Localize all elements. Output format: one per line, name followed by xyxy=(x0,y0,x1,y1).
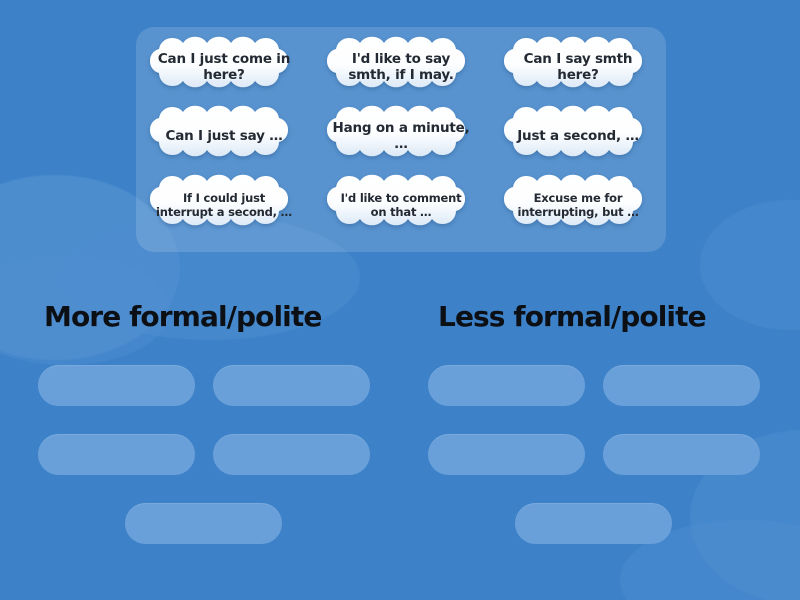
drop-slot[interactable] xyxy=(213,365,370,406)
card-label: Hang on a minute, … xyxy=(322,121,480,153)
group-heading-more-formal: More formal/polite xyxy=(44,300,321,333)
card-label: Can I just say … xyxy=(156,129,291,145)
drop-slot[interactable] xyxy=(428,365,585,406)
activity-stage: Can I just come in here?I'd like to say … xyxy=(0,0,800,600)
card-label: Can I just come in here? xyxy=(145,52,303,84)
card-label: I'd like to comment on that … xyxy=(322,192,480,219)
draggable-card[interactable]: Just a second, … xyxy=(499,105,657,169)
drop-slot[interactable] xyxy=(125,503,282,544)
draggable-card[interactable]: Can I just say … xyxy=(145,105,303,169)
card-row: If I could just interrupt a second, …I'd… xyxy=(136,174,666,239)
draggable-card[interactable]: Excuse me for interrupting, but … xyxy=(499,174,657,238)
card-label: If I could just interrupt a second, … xyxy=(145,192,303,219)
draggable-card[interactable]: I'd like to comment on that … xyxy=(322,174,480,238)
draggable-card[interactable]: I'd like to say smth, if I may. xyxy=(322,36,480,100)
draggable-card[interactable]: If I could just interrupt a second, … xyxy=(145,174,303,238)
group-heading-less-formal: Less formal/polite xyxy=(438,300,706,333)
card-row: Can I just say …Hang on a minute, …Just … xyxy=(136,105,666,170)
card-label: Excuse me for interrupting, but … xyxy=(499,192,657,219)
card-row: Can I just come in here?I'd like to say … xyxy=(136,36,666,101)
drop-slot[interactable] xyxy=(38,434,195,475)
draggable-cards-tray: Can I just come in here?I'd like to say … xyxy=(136,27,666,252)
drop-slot[interactable] xyxy=(603,434,760,475)
draggable-card[interactable]: Can I say smth here? xyxy=(499,36,657,100)
background-cloud-icon xyxy=(700,200,800,330)
card-label: Can I say smth here? xyxy=(499,52,657,84)
drop-slot[interactable] xyxy=(428,434,585,475)
card-label: Just a second, … xyxy=(508,129,648,145)
draggable-card[interactable]: Can I just come in here? xyxy=(145,36,303,100)
card-label: I'd like to say smth, if I may. xyxy=(322,52,480,84)
drop-slot[interactable] xyxy=(515,503,672,544)
drop-slot[interactable] xyxy=(603,365,760,406)
draggable-card[interactable]: Hang on a minute, … xyxy=(322,105,480,169)
drop-slot[interactable] xyxy=(213,434,370,475)
drop-slot[interactable] xyxy=(38,365,195,406)
